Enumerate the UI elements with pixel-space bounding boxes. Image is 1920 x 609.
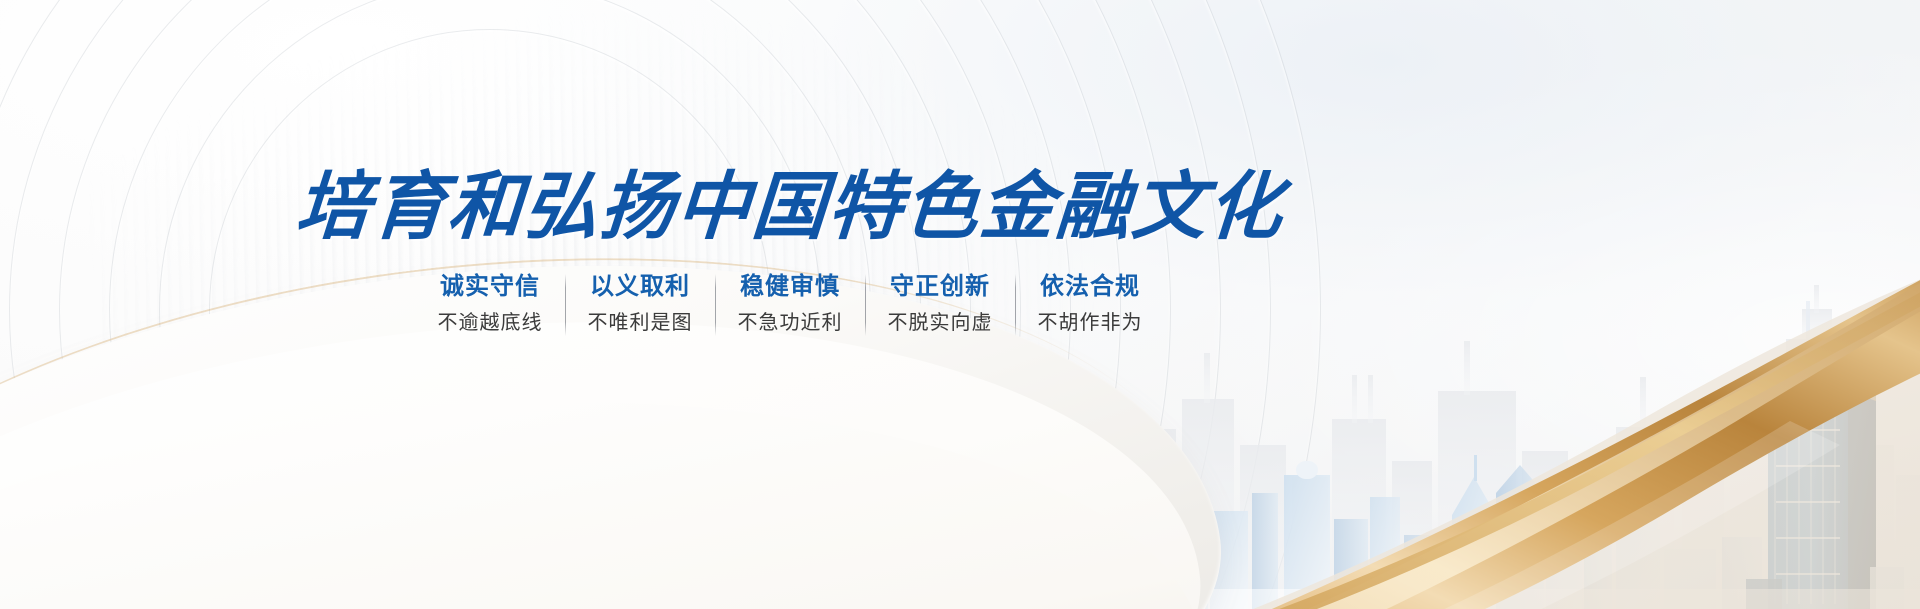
pillar-title: 以义取利 bbox=[590, 272, 690, 302]
pillar-item-5: 依法合规 不胡作非为 bbox=[1016, 272, 1165, 336]
pillar-title: 依法合规 bbox=[1040, 272, 1140, 302]
pillar-title: 稳健审慎 bbox=[740, 272, 840, 302]
pillar-title: 诚实守信 bbox=[440, 272, 540, 302]
pillar-subtitle: 不脱实向虚 bbox=[888, 311, 993, 336]
pillar-subtitle: 不逾越底线 bbox=[438, 311, 543, 336]
banner-root: 培育和弘扬中国特色金融文化 诚实守信 不逾越底线 以义取利 不唯利是图 稳健审慎… bbox=[0, 0, 1920, 609]
pillar-item-2: 以义取利 不唯利是图 bbox=[566, 272, 715, 336]
pillar-subtitle: 不胡作非为 bbox=[1038, 311, 1143, 336]
pillar-subtitle: 不唯利是图 bbox=[588, 311, 693, 336]
pillar-item-4: 守正创新 不脱实向虚 bbox=[866, 272, 1015, 336]
pillar-item-3: 稳健审慎 不急功近利 bbox=[716, 272, 865, 336]
content-layer: 培育和弘扬中国特色金融文化 诚实守信 不逾越底线 以义取利 不唯利是图 稳健审慎… bbox=[0, 0, 1920, 609]
pillar-title: 守正创新 bbox=[890, 272, 990, 302]
pillar-subtitle: 不急功近利 bbox=[738, 311, 843, 336]
pillar-list: 诚实守信 不逾越底线 以义取利 不唯利是图 稳健审慎 不急功近利 守正创新 不脱… bbox=[0, 272, 1580, 336]
page-title: 培育和弘扬中国特色金融文化 bbox=[0, 170, 1583, 244]
pillar-item-1: 诚实守信 不逾越底线 bbox=[416, 272, 565, 336]
